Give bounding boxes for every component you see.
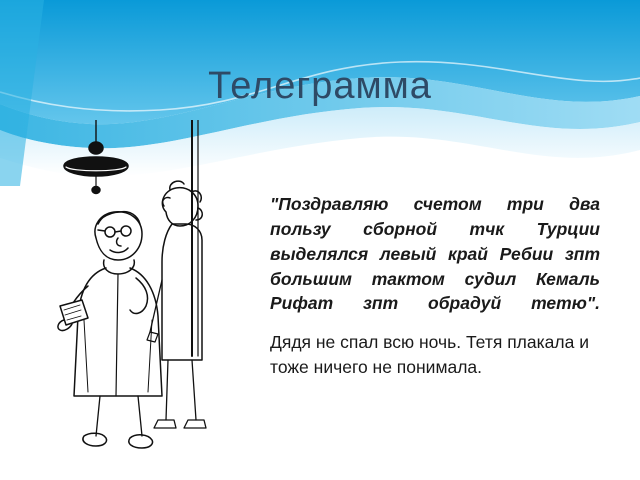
illustration	[46, 120, 286, 450]
narration-text: Дядя не спал всю ночь. Тетя плакала и то…	[270, 330, 600, 380]
telegram-quote: "Поздравляю счетом три два пользу сборно…	[270, 192, 600, 316]
text-block: "Поздравляю счетом три два пользу сборно…	[270, 192, 600, 380]
page-title: Телеграмма	[0, 65, 640, 108]
slide: Телеграмма	[0, 0, 640, 480]
